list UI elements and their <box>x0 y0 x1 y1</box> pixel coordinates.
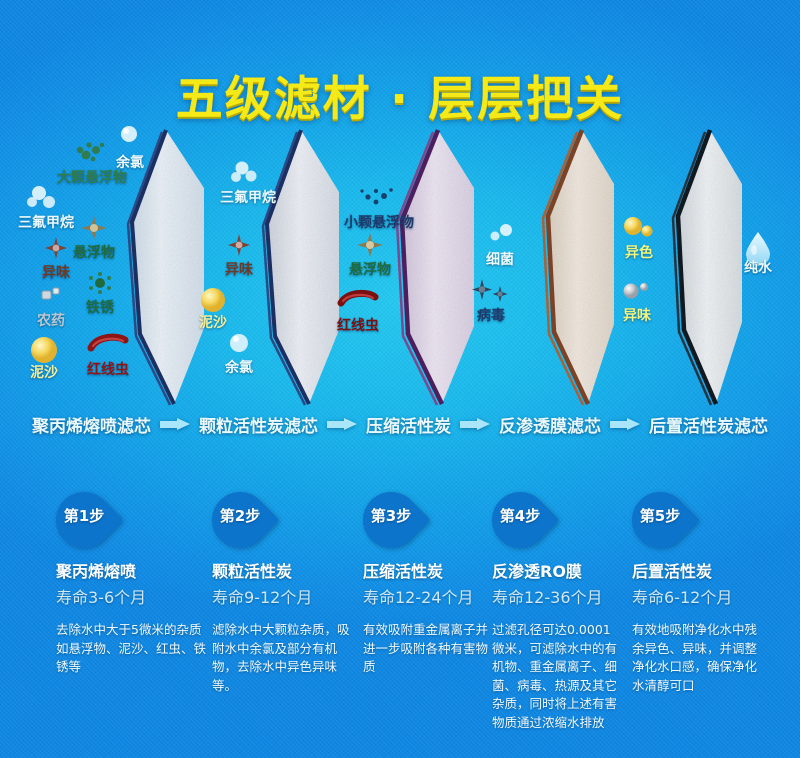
yellow-sphere-pair-icon <box>608 215 670 241</box>
maroon-sparkle-icon <box>28 235 84 261</box>
yellow-sphere-icon <box>186 285 240 311</box>
step-title: 反渗透RO膜 <box>492 558 622 582</box>
step-pin-icon: 第5步 <box>632 492 688 548</box>
step-lifetime: 寿命12-24个月 <box>363 584 489 608</box>
navy-dots-cluster-icon <box>332 185 426 211</box>
contaminant-tag: 大颗悬浮物 <box>42 140 142 187</box>
filter-name-1: 聚丙烯熔喷滤芯 <box>32 412 151 437</box>
contaminant-tag: 异味 <box>606 278 668 325</box>
contaminant-tag: 三氟甲烷 <box>208 160 288 207</box>
step-title: 后置活性炭 <box>632 558 764 582</box>
red-worm-icon <box>78 332 138 358</box>
step-lifetime: 寿命9-12个月 <box>212 584 360 608</box>
arrow-right-icon <box>610 418 640 431</box>
filter-name-5: 后置活性炭滤芯 <box>649 412 768 437</box>
maroon-sparkle-icon <box>212 232 266 258</box>
infographic-canvas: 五级滤材 · 层层把关 <box>0 0 800 758</box>
step-badge-label: 第4步 <box>492 492 548 538</box>
green-ring-dots-icon <box>72 270 128 296</box>
arrow-right-icon <box>327 418 357 431</box>
step-badge-label: 第2步 <box>212 492 268 538</box>
grey-pellet-icon <box>24 283 78 309</box>
step-lifetime: 寿命6-12个月 <box>632 584 764 608</box>
blue-bubble-cluster-icon <box>208 160 288 186</box>
brown-sparkle-icon <box>342 232 398 258</box>
contaminant-tag: 泥沙 <box>16 335 72 382</box>
contaminant-tag: 纯水 <box>730 230 786 277</box>
filter-name-4: 反渗透膜滤芯 <box>499 412 601 437</box>
page-title: 五级滤材 · 层层把关 <box>0 60 800 129</box>
step-card-2: 第2步 颗粒活性炭 寿命9-12个月 滤除水中大颗粒杂质，吸附水中余氯及部分有机… <box>212 492 360 695</box>
step-description: 过滤孔径可达0.0001微米，可滤除水中的有机物、重金属离子、细菌、病毒、热源及… <box>492 621 622 732</box>
yellow-sphere-icon <box>16 335 72 361</box>
contaminant-tag: 异味 <box>212 232 266 279</box>
contaminant-tag: 异色 <box>608 215 670 262</box>
step-lifetime: 寿命3-6个月 <box>56 584 206 608</box>
arrow-right-icon <box>160 418 190 431</box>
step-description: 有效吸附重金属离子并进一步吸附各种有害物质 <box>363 621 489 677</box>
contaminant-tag: 红线虫 <box>328 288 388 335</box>
filter-name-3: 压缩活性炭 <box>366 412 451 437</box>
step-card-3: 第3步 压缩活性炭 寿命12-24个月 有效吸附重金属离子并进一步吸附各种有害物… <box>363 492 489 677</box>
contaminant-tag: 农药 <box>24 283 78 330</box>
contaminant-tag: 小颗悬浮物 <box>332 185 426 232</box>
arrow-right-icon <box>460 418 490 431</box>
blue-bubble-icon <box>212 330 266 356</box>
red-worm-icon <box>328 288 388 314</box>
filter-name-row: 聚丙烯熔喷滤芯 颗粒活性炭滤芯 压缩活性炭 反渗透膜滤芯 后置活性炭滤芯 <box>0 410 800 438</box>
step-badge-label: 第5步 <box>632 492 688 538</box>
filter-name-2: 颗粒活性炭滤芯 <box>199 412 318 437</box>
filter-cartridge-4 <box>538 128 648 406</box>
dark-sparkle-pair-icon <box>460 278 522 304</box>
step-badge-label: 第3步 <box>363 492 419 538</box>
step-badge-label: 第1步 <box>56 492 112 538</box>
step-card-4: 第4步 反渗透RO膜 寿命12-36个月 过滤孔径可达0.0001微米，可滤除水… <box>492 492 622 732</box>
contaminant-tag: 细菌 <box>472 222 528 269</box>
contaminant-tag: 泥沙 <box>186 285 240 332</box>
blue-bubble-cluster-icon <box>472 222 528 248</box>
step-title: 压缩活性炭 <box>363 558 489 582</box>
contaminant-tag: 病毒 <box>460 278 522 325</box>
contaminant-tag: 铁锈 <box>72 270 128 317</box>
step-card-1: 第1步 聚丙烯熔喷 寿命3-6个月 去除水中大于5微米的杂质如悬浮物、泥沙、红虫… <box>56 492 206 677</box>
contaminant-tag: 红线虫 <box>78 332 138 379</box>
water-drop-icon <box>730 230 786 256</box>
grey-sphere-pair-icon <box>606 278 668 304</box>
step-description: 去除水中大于5微米的杂质如悬浮物、泥沙、红虫、铁锈等 <box>56 621 206 677</box>
blue-bubble-cluster-icon <box>2 185 90 211</box>
step-card-5: 第5步 后置活性炭 寿命6-12个月 有效地吸附净化水中残余异色、异味，并调整净… <box>632 492 764 695</box>
step-description: 滤除水中大颗粒杂质，吸附水中余氯及部分有机物，去除水中异色异味等。 <box>212 621 360 695</box>
green-dots-cluster-icon <box>42 140 142 166</box>
step-pin-icon: 第1步 <box>56 492 112 548</box>
step-title: 颗粒活性炭 <box>212 558 360 582</box>
step-lifetime: 寿命12-36个月 <box>492 584 622 608</box>
contaminant-tag: 余氯 <box>212 330 266 377</box>
step-pin-icon: 第4步 <box>492 492 548 548</box>
step-pin-icon: 第2步 <box>212 492 268 548</box>
step-pin-icon: 第3步 <box>363 492 419 548</box>
contaminant-tag: 悬浮物 <box>342 232 398 279</box>
step-title: 聚丙烯熔喷 <box>56 558 206 582</box>
step-description: 有效地吸附净化水中残余异色、异味，并调整净化水口感，确保净化水清醇可口 <box>632 621 764 695</box>
